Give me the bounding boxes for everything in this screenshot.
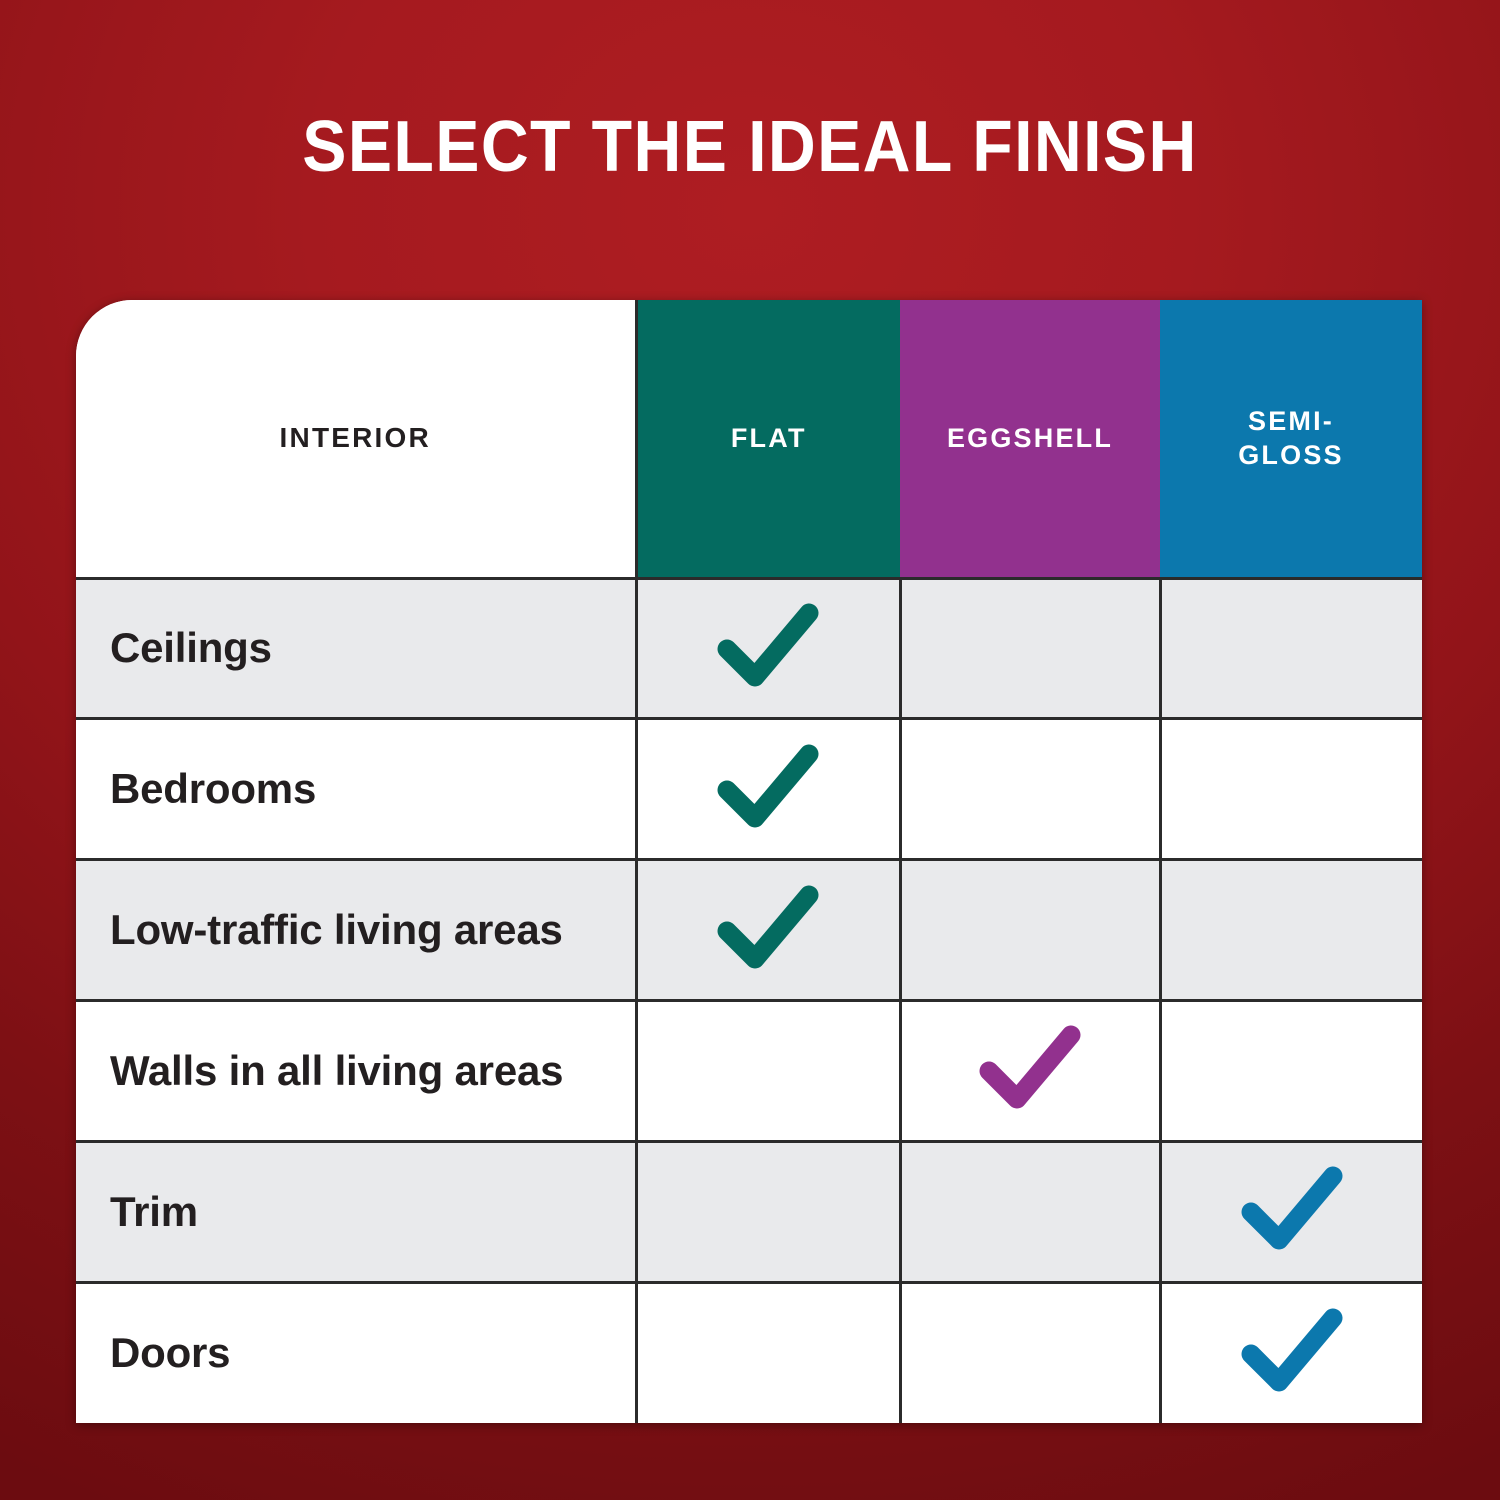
infographic-canvas: SELECT THE IDEAL FINISH INTERIOR FLAT EG… [0, 0, 1500, 1500]
row-label-trim: Trim [76, 1141, 636, 1282]
cell-semi-gloss [1160, 860, 1422, 1001]
cell-eggshell [900, 719, 1160, 860]
row-label-bedrooms: Bedrooms [76, 719, 636, 860]
cell-semi-gloss [1160, 1000, 1422, 1141]
page-title: SELECT THE IDEAL FINISH [60, 104, 1440, 190]
row-label-doors: Doors [76, 1282, 636, 1423]
cell-eggshell [900, 1141, 1160, 1282]
table-row: Trim [76, 1141, 1422, 1282]
check-icon [713, 599, 823, 693]
column-header-semi-gloss-line1: SEMI- [1248, 406, 1334, 436]
check-icon [713, 740, 823, 834]
finish-selection-table: INTERIOR FLAT EGGSHELL SEMI-GLOSS Ceilin… [76, 300, 1422, 1423]
cell-eggshell [900, 578, 1160, 719]
cell-flat [636, 860, 900, 1001]
table-header: INTERIOR FLAT EGGSHELL SEMI-GLOSS [76, 300, 1422, 578]
row-label-ceilings: Ceilings [76, 578, 636, 719]
table-row: Walls in all living areas [76, 1000, 1422, 1141]
cell-flat [636, 1282, 900, 1423]
table-row: Low-traffic living areas [76, 860, 1422, 1001]
cell-semi-gloss [1160, 1141, 1422, 1282]
check-icon [975, 1021, 1085, 1115]
cell-eggshell [900, 860, 1160, 1001]
table-body: CeilingsBedroomsLow-traffic living areas… [76, 578, 1422, 1423]
cell-eggshell [900, 1282, 1160, 1423]
cell-flat [636, 1141, 900, 1282]
table-row: Bedrooms [76, 719, 1422, 860]
row-label-low-traffic-living-areas: Low-traffic living areas [76, 860, 636, 1001]
column-header-interior: INTERIOR [76, 300, 636, 578]
check-icon [713, 881, 823, 975]
cell-semi-gloss [1160, 578, 1422, 719]
check-icon [1237, 1162, 1347, 1256]
cell-flat [636, 719, 900, 860]
finish-table: INTERIOR FLAT EGGSHELL SEMI-GLOSS Ceilin… [76, 300, 1422, 1423]
column-header-flat: FLAT [636, 300, 900, 578]
column-header-semi-gloss-line2: GLOSS [1238, 440, 1344, 470]
cell-eggshell [900, 1000, 1160, 1141]
row-label-walls-in-all-living-areas: Walls in all living areas [76, 1000, 636, 1141]
column-header-eggshell: EGGSHELL [900, 300, 1160, 578]
table-header-row: INTERIOR FLAT EGGSHELL SEMI-GLOSS [76, 300, 1422, 578]
cell-semi-gloss [1160, 719, 1422, 860]
column-header-semi-gloss: SEMI-GLOSS [1160, 300, 1422, 578]
cell-semi-gloss [1160, 1282, 1422, 1423]
cell-flat [636, 1000, 900, 1141]
table-row: Ceilings [76, 578, 1422, 719]
cell-flat [636, 578, 900, 719]
check-icon [1237, 1304, 1347, 1398]
table-row: Doors [76, 1282, 1422, 1423]
